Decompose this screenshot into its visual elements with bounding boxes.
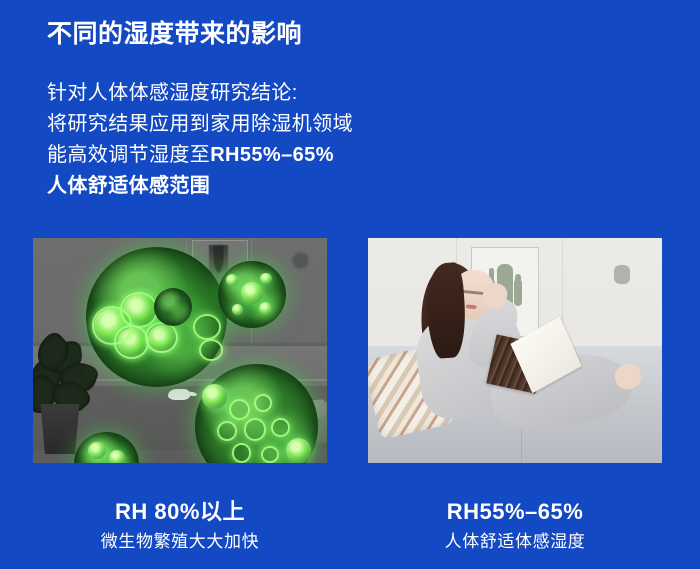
dark-living-room-illustration (33, 238, 327, 463)
photo-high-humidity (33, 238, 327, 463)
bird-figurine-icon (168, 389, 190, 400)
caption-comfort-humidity: RH55%–65% 人体舒适体感湿度 (368, 498, 662, 554)
humidity-comparison-poster: 不同的湿度带来的影响 针对人体体感湿度研究结论: 将研究结果应用到家用除湿机领域… (0, 0, 700, 569)
wall-thermostat-icon (614, 265, 630, 284)
photo-comfort-humidity (368, 238, 662, 463)
body-copy: 针对人体体感湿度研究结论: 将研究结果应用到家用除湿机领域 能高效调节湿度至RH… (47, 78, 353, 202)
caption-subtitle: 微生物繁殖大大加快 (33, 529, 327, 554)
caption-title: RH55%–65% (368, 498, 662, 526)
microbe-sphere-icon (154, 288, 192, 326)
microbe-sphere-icon (218, 261, 286, 329)
body-line-4: 人体舒适体感范围 (47, 171, 353, 202)
body-line-3-prefix: 能高效调节湿度至 (47, 144, 210, 166)
body-line-2: 将研究结果应用到家用除湿机领域 (47, 109, 353, 140)
caption-subtitle: 人体舒适体感湿度 (368, 529, 662, 554)
humidity-range-highlight: RH55%–65% (210, 144, 334, 166)
body-line-3: 能高效调节湿度至RH55%–65% (47, 140, 353, 171)
page-title: 不同的湿度带来的影响 (47, 19, 302, 50)
caption-high-humidity: RH 80%以上 微生物繁殖大大加快 (33, 498, 327, 554)
bright-living-room-illustration (368, 238, 662, 463)
wall-thermostat-icon (294, 254, 307, 267)
caption-title: RH 80%以上 (33, 498, 327, 526)
plant-pot-shape (38, 404, 82, 454)
body-line-1: 针对人体体感湿度研究结论: (47, 78, 353, 109)
